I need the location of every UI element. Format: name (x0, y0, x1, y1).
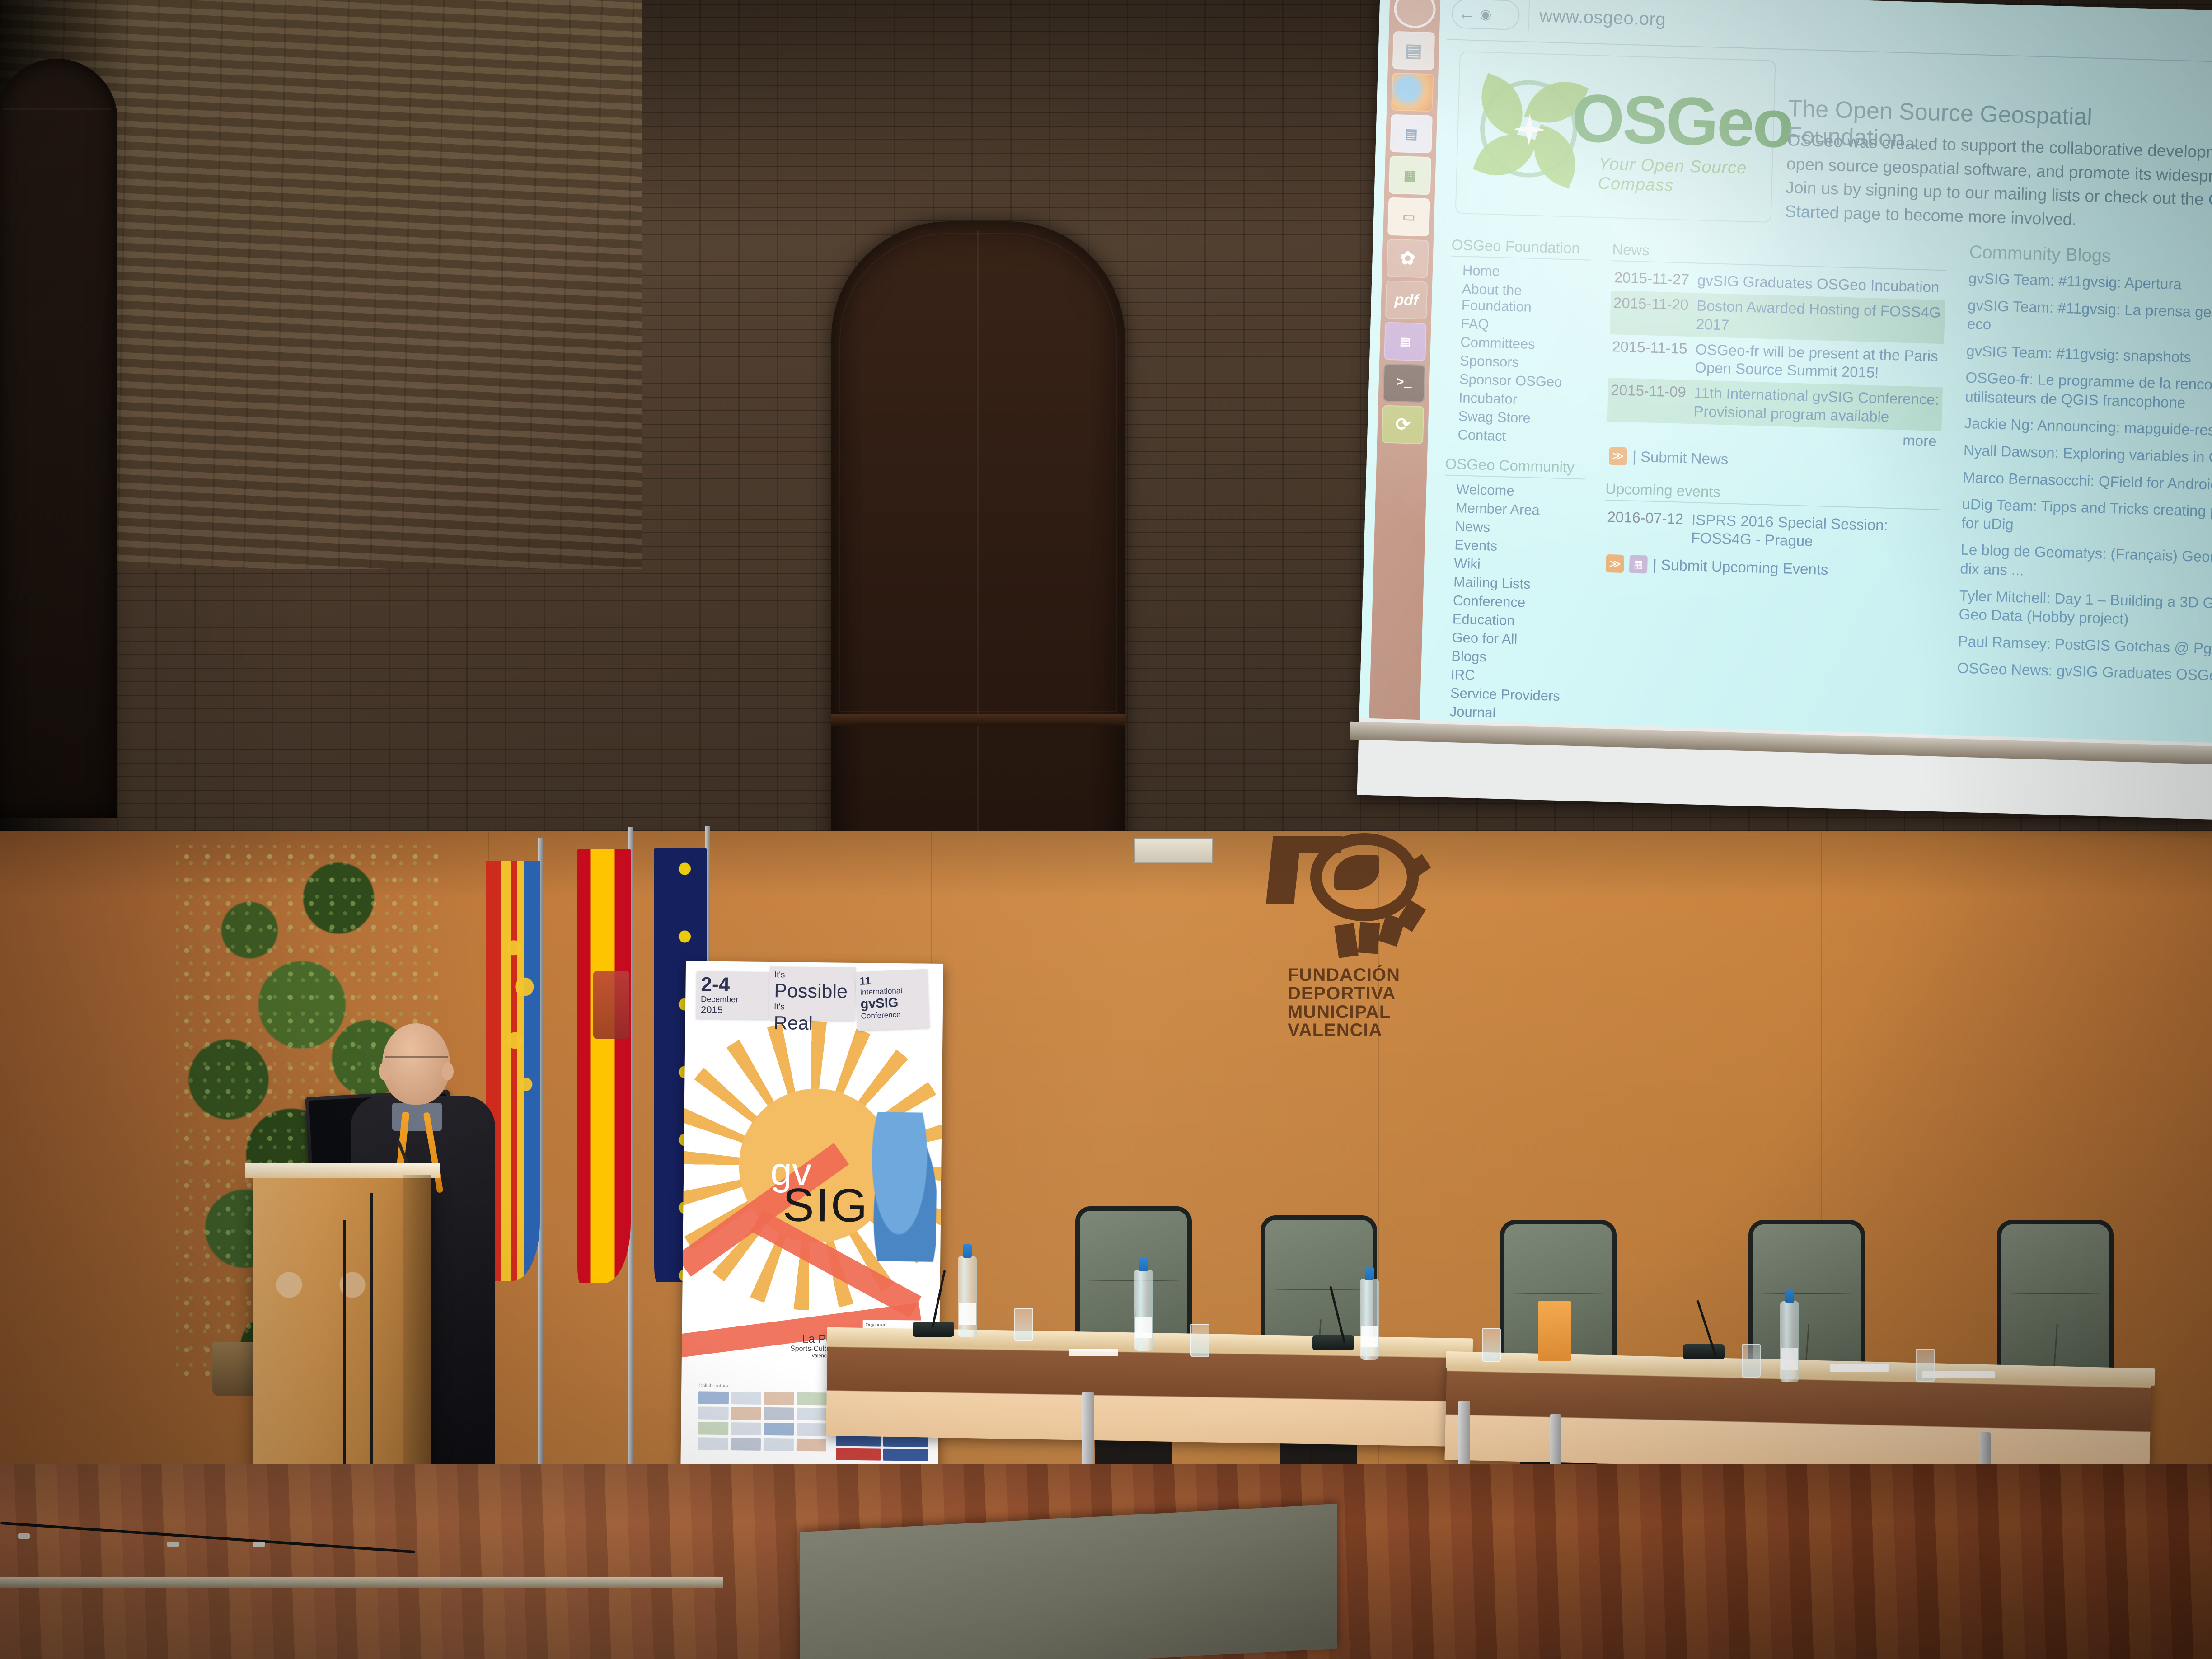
banner-date-year: 2015 (701, 1004, 764, 1016)
venue-logo-line-1: FUNDACIÓN (1288, 966, 1437, 984)
calendar-icon[interactable]: ▦ (1629, 555, 1648, 574)
impress-icon[interactable]: ▭ (1387, 197, 1430, 237)
intro-body-1: OSGeo was created to support the collabo… (1786, 131, 2212, 209)
wall-plaque (1134, 838, 1213, 863)
gear-icon[interactable]: ✿ (1387, 239, 1429, 278)
presenter-collar (392, 1103, 442, 1131)
presenter-head (382, 1023, 450, 1105)
firefox-icon[interactable] (1391, 73, 1434, 112)
venue-logo-line-4: VALENCIA (1288, 1021, 1437, 1040)
osgeo-compass-icon (1471, 70, 1587, 187)
updates-icon[interactable]: ⟳ (1382, 405, 1424, 445)
blog-item[interactable]: Jackie Ng: Announcing: mapguide-rest 1.0 (1964, 414, 2212, 442)
water-bottle (1360, 1279, 1379, 1360)
news-date: 2015-11-09 (1610, 381, 1687, 420)
projection-screen: ▤ ▤ ▦ ▭ ✿ pdf ▤ >_ ⟳ ← ◉ www.osgeo.org (1357, 0, 2212, 820)
sponsor-logo-grid (694, 1388, 830, 1454)
banner-sponsors-label: Collaborators: (695, 1381, 830, 1390)
rss-icon[interactable]: ≫ (1609, 447, 1627, 465)
rss-icon[interactable]: ≫ (1606, 554, 1624, 573)
name-card (1538, 1301, 1571, 1361)
paper-sheet (1069, 1349, 1118, 1356)
submit-events-link[interactable]: | Submit Upcoming Events (1653, 556, 1828, 578)
writer-icon[interactable]: ▤ (1390, 114, 1432, 154)
banner-figure (868, 1112, 937, 1262)
files-icon[interactable]: ▤ (1392, 31, 1435, 70)
news-date: 2015-11-15 (1611, 338, 1687, 376)
drinking-glass (1742, 1344, 1761, 1378)
stage-edge (0, 1577, 723, 1588)
sidebar-community-title: OSGeo Community (1445, 455, 1585, 480)
arched-window-left (0, 59, 117, 818)
water-bottle (958, 1256, 977, 1337)
banner-date-day: 2-4 (701, 975, 764, 995)
sidebar-item-about[interactable]: About the Foundation (1449, 279, 1590, 318)
blog-item[interactable]: uDig Team: Tipps and Tricks creating pul… (1961, 495, 2212, 542)
blog-item[interactable]: gvSIG Team: #11gvsig: snapshots (1966, 341, 2212, 370)
spain-flag (577, 849, 631, 1283)
back-arrow-icon[interactable]: ← (1458, 5, 1476, 23)
blog-item[interactable]: Le blog de Geomatys: (Français) Geomatys… (1960, 540, 2212, 588)
purple-app-icon[interactable]: ▤ (1384, 322, 1426, 361)
news-headline[interactable]: OSGeo-fr will be present at the Paris Op… (1695, 340, 1941, 384)
banner-date-tag: 2-4 December 2015 (696, 971, 769, 1019)
venue-logo-text: FUNDACIÓN DEPORTIVA MUNICIPAL VALENCIA (1288, 966, 1437, 1040)
desk-microphone (1312, 1335, 1354, 1350)
venue-logo: FUNDACIÓN DEPORTIVA MUNICIPAL VALENCIA (1251, 827, 1441, 1048)
banner-date-month: December (701, 994, 764, 1004)
osgeo-tagline: Your Open Source Compass (1598, 155, 1772, 198)
banner-slogan-2: Possible (774, 980, 851, 1003)
desk-microphone (1683, 1344, 1725, 1359)
door-rail (831, 714, 1125, 726)
blog-item[interactable]: OSGeo News: gvSIG Graduates OSGeo Incuba… (1957, 659, 2212, 687)
venue-logo-line-2: DEPORTIVA (1288, 984, 1437, 1003)
news-headline[interactable]: gvSIG Graduates OSGeo Incubation (1697, 271, 1940, 296)
venue-logo-line-3: MUNICIPAL (1288, 1003, 1437, 1022)
gvsig-logo-sig: SIG (783, 1178, 869, 1233)
sidebar-foundation-list: Home About the Foundation FAQ Committees… (1446, 261, 1591, 448)
projected-desktop: ▤ ▤ ▦ ▭ ✿ pdf ▤ >_ ⟳ ← ◉ www.osgeo.org (1359, 0, 2212, 743)
news-headline[interactable]: 11th International gvSIG Conference: Pro… (1693, 384, 1940, 427)
cable-tie (167, 1542, 179, 1547)
globe-icon: ◉ (1480, 6, 1492, 23)
intro-body: OSGeo was created to support the collabo… (1785, 128, 2212, 238)
news-column: News 2015-11-27 gvSIG Graduates OSGeo In… (1603, 241, 1947, 582)
blog-item[interactable]: Tyler Mitchell: Day 1 – Building a 3D Ga… (1959, 586, 2212, 633)
pdf-icon[interactable]: pdf (1385, 281, 1428, 320)
url-bar[interactable]: www.osgeo.org (1528, 0, 2212, 51)
paper-sheet (1830, 1364, 1889, 1372)
event-date: 2016-07-12 (1607, 508, 1684, 547)
cable-tie (18, 1533, 30, 1539)
banner-conference-tag: 11 International gvSIG Conference (855, 969, 930, 1031)
conference-photo-scene: FUNDACIÓN DEPORTIVA MUNICIPAL VALENCIA ▤… (0, 0, 2212, 1659)
sidebar-community-list: Welcome Member Area News Events Wiki Mai… (1437, 480, 1585, 743)
browser-nav-controls[interactable]: ← ◉ (1451, 0, 1520, 30)
drinking-glass (1482, 1328, 1501, 1362)
submit-news-link[interactable]: | Submit News (1632, 448, 1729, 468)
banner-slogan-tag: It's Possible It's Real (769, 966, 856, 1021)
banner-slogan-1: It's (774, 970, 851, 981)
blog-item[interactable]: Nyall Dawson: Exploring variables in QGI… (1963, 441, 2212, 469)
water-bottle (1134, 1270, 1153, 1351)
banner-slogan-4: Real (773, 1012, 850, 1035)
osgeo-wordmark: OSGeo (1570, 79, 1793, 163)
podium-emblem-icon (271, 1267, 307, 1303)
blog-item[interactable]: Paul Ramsey: PostGIS Gotchas @ PgCon 201… (1958, 632, 2212, 660)
drinking-glass (1014, 1308, 1033, 1341)
paper-sheet (1922, 1371, 1995, 1378)
event-headline[interactable]: ISPRS 2016 Special Session: FOSS4G - Pra… (1691, 511, 1936, 554)
calc-icon[interactable]: ▦ (1389, 156, 1431, 195)
presenter-glasses (385, 1056, 448, 1058)
news-date: 2015-11-20 (1612, 294, 1689, 333)
news-headline[interactable]: Boston Awarded Hosting of FOSS4G 2017 (1696, 297, 1943, 340)
blog-item[interactable]: gvSIG Team: #11gvsig: La prensa generali… (1967, 295, 2212, 343)
site-sidebar: OSGeo Foundation Home About the Foundati… (1434, 236, 1592, 743)
osgeo-webpage: OSGeo Your Open Source Compass The Open … (1427, 42, 2212, 743)
sidebar-foundation-title: OSGeo Foundation (1451, 236, 1592, 261)
fdm-emblem-icon (1251, 827, 1441, 976)
cable-tie (253, 1542, 265, 1547)
intro-body-2: page to become more involved. (1839, 203, 2077, 229)
news-date: 2015-11-27 (1614, 269, 1689, 289)
gvsig-logo: gv SIG (767, 1149, 872, 1232)
drinking-glass (1190, 1324, 1209, 1357)
sidebar-item-contact[interactable]: Contact (1446, 425, 1586, 448)
blogs-title: Community Blogs (1969, 242, 2212, 272)
blog-item[interactable]: OSGeo-fr: Le programme de la rencontre d… (1965, 368, 2212, 416)
banner-slogan-3: It's (774, 1002, 851, 1013)
ubuntu-dash-icon[interactable] (1393, 0, 1436, 29)
community-blogs-column: Community Blogs gvSIG Team: #11gvsig: Ap… (1957, 242, 2212, 695)
blog-item[interactable]: Marco Bernasocchi: QField for Android 5 (1963, 468, 2212, 496)
osgeo-logo-box: OSGeo Your Open Source Compass (1455, 51, 1776, 223)
water-bottle (1780, 1301, 1799, 1382)
blog-item[interactable]: gvSIG Team: #11gvsig: Apertura (1968, 269, 2212, 297)
terminal-icon[interactable]: >_ (1383, 364, 1425, 403)
